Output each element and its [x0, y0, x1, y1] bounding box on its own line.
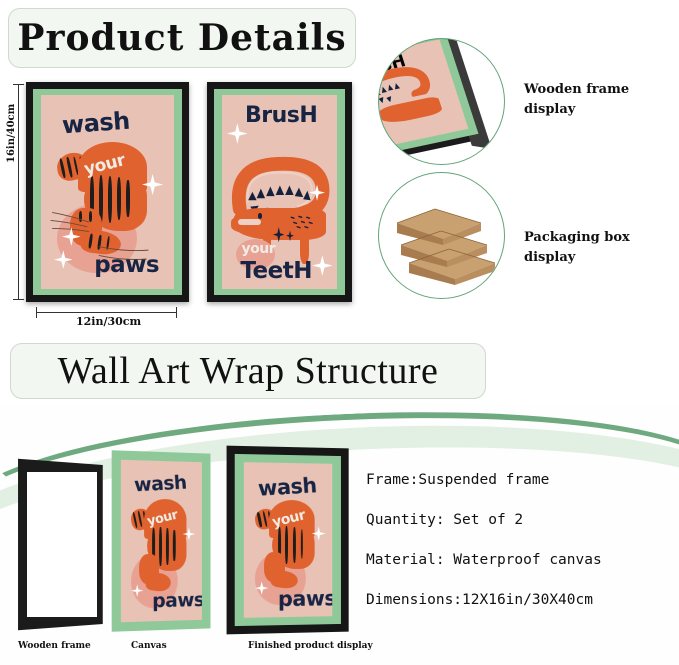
- spec-dimensions: Dimensions:12X16in/30X40cm: [366, 592, 593, 608]
- wrap-structure-heading-box: Wall Art Wrap Structure: [10, 343, 486, 399]
- spec-material: Material: Waterproof canvas: [366, 552, 602, 568]
- product-detail-image: Product Details 16in/40cm 12in/30cm: [0, 0, 679, 665]
- sparkle-star: [312, 250, 333, 281]
- framed-poster-crocodile: BrusH your TeetH: [207, 82, 352, 302]
- caption-finished-product: Finished product display: [248, 641, 373, 651]
- framed-poster-tiger: wash your paws: [26, 82, 189, 302]
- callout-circle-wooden-frame: BrusH: [378, 38, 505, 165]
- poster-word-paws: paws: [278, 589, 332, 611]
- caption-wooden-frame: Wooden frame: [18, 641, 91, 651]
- page-title: Product Details: [17, 17, 346, 59]
- callout-label-packaging-box: Packaging box display: [524, 228, 630, 267]
- stacked-cardboard-boxes-icon: [387, 193, 499, 285]
- vertical-dimension-tick-bottom: [13, 299, 24, 300]
- section-title: Wall Art Wrap Structure: [58, 349, 439, 393]
- poster-word-wash: wash: [258, 475, 318, 499]
- horizontal-dimension-tick-left: [36, 307, 37, 318]
- crocodile-snout-teeth: [238, 219, 261, 225]
- poster-word-paws: paws: [94, 254, 159, 277]
- spec-frame: Frame:Suspended frame: [366, 472, 549, 488]
- poster-artwork-crocodile: BrusH your TeetH: [222, 95, 337, 289]
- spec-quantity: Quantity: Set of 2: [366, 512, 523, 528]
- product-details-heading-box: Product Details: [8, 8, 356, 68]
- poster-word-your: your: [242, 242, 276, 256]
- poster-artwork-tiger: wash your paws: [41, 95, 174, 289]
- horizontal-dimension-label: 12in/30cm: [76, 315, 141, 328]
- sparkle-star: [309, 180, 325, 205]
- callout-label-wooden-frame: Wooden frame display: [524, 80, 629, 119]
- canvas-illustration: wash your paws: [112, 450, 211, 631]
- poster-word-wash: wash: [134, 474, 188, 496]
- poster-word-paws: paws: [152, 591, 202, 611]
- vertical-dimension-tick-top: [13, 84, 24, 85]
- horizontal-dimension-tick-right: [176, 307, 177, 318]
- sparkle-star: [286, 227, 294, 244]
- sparkle-star: [142, 169, 163, 200]
- horizontal-dimension-line: [36, 312, 177, 313]
- tilted-frame-corner-icon: BrusH: [378, 38, 505, 165]
- callout-circle-packaging-box: [378, 172, 505, 299]
- vertical-dimension-line: [18, 84, 19, 300]
- wooden-frame-illustration: [18, 462, 106, 627]
- sparkle-star: [54, 246, 73, 273]
- finished-product-illustration: wash your paws: [227, 446, 349, 635]
- poster-word-teeth: TeetH: [240, 260, 312, 283]
- vertical-dimension-label: 16in/40cm: [6, 104, 17, 163]
- poster-word-wash: wash: [62, 108, 131, 137]
- poster-word-brush: BrusH: [245, 105, 317, 127]
- caption-canvas: Canvas: [131, 641, 167, 651]
